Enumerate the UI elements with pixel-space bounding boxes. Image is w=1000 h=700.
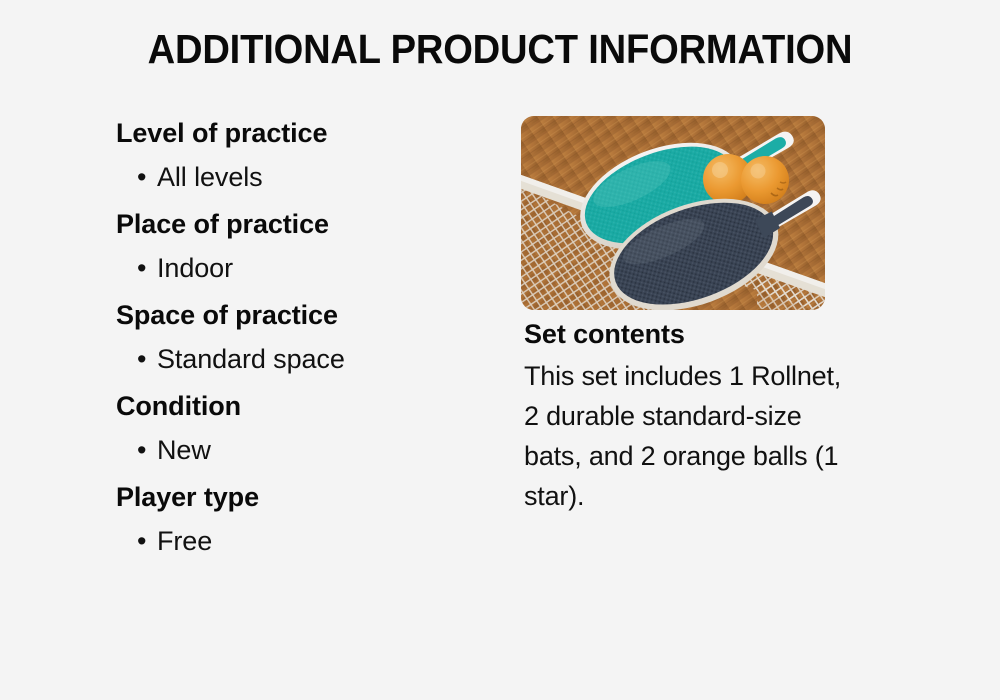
bullet-icon: •: [137, 161, 157, 194]
spec-label: Player type: [116, 481, 496, 514]
bullet-icon: •: [137, 525, 157, 558]
spec-item-place-of-practice: Place of practice • Indoor: [116, 208, 496, 285]
spec-item-space-of-practice: Space of practice • Standard space: [116, 299, 496, 376]
page-title: ADDITIONAL PRODUCT INFORMATION: [35, 26, 965, 72]
spec-label: Place of practice: [116, 208, 496, 241]
spec-value-row: • Standard space: [116, 343, 496, 376]
spec-value: Free: [157, 525, 212, 558]
spec-value-row: • All levels: [116, 161, 496, 194]
spec-label: Level of practice: [116, 117, 496, 150]
specification-list: Level of practice • All levels Place of …: [116, 117, 496, 558]
spec-value: Indoor: [157, 252, 233, 285]
spec-label: Condition: [116, 390, 496, 423]
product-information-page: ADDITIONAL PRODUCT INFORMATION Level of …: [0, 0, 1000, 700]
spec-value: All levels: [157, 161, 263, 194]
product-photo: [521, 116, 825, 310]
spec-item-level-of-practice: Level of practice • All levels: [116, 117, 496, 194]
bullet-icon: •: [137, 434, 157, 467]
spec-value-row: • Free: [116, 525, 496, 558]
spec-value-row: • Indoor: [116, 252, 496, 285]
spec-label: Space of practice: [116, 299, 496, 332]
spec-item-player-type: Player type • Free: [116, 481, 496, 558]
bullet-icon: •: [137, 343, 157, 376]
set-contents-block: Set contents This set includes 1 Rollnet…: [524, 317, 854, 516]
spec-value: Standard space: [157, 343, 345, 376]
spec-value-row: • New: [116, 434, 496, 467]
spec-item-condition: Condition • New: [116, 390, 496, 467]
spec-value: New: [157, 434, 211, 467]
bullet-icon: •: [137, 252, 157, 285]
set-contents-body: This set includes 1 Rollnet, 2 durable s…: [524, 356, 854, 516]
set-contents-heading: Set contents: [524, 317, 854, 351]
